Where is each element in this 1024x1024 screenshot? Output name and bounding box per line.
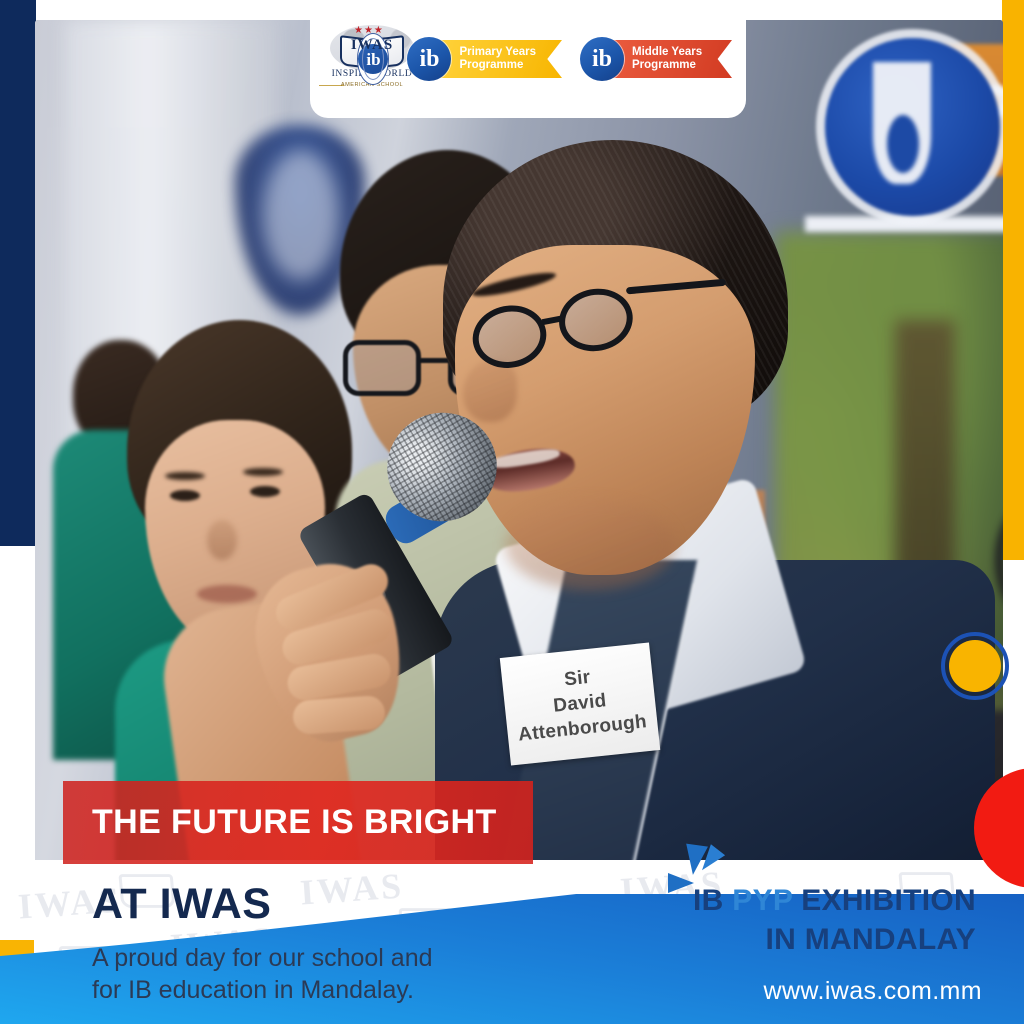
- photo-nametag-primary-line1: Sir: [563, 667, 591, 692]
- headline-banner-text: THE FUTURE IS BRIGHT: [92, 803, 497, 842]
- photo-child-left-mouth: [197, 585, 257, 603]
- photo-background-shield-highlight: [263, 150, 339, 280]
- yellow-dot-accent: [949, 640, 1001, 692]
- event-title-line2: IN MANDALAY: [693, 923, 976, 957]
- headline-banner: THE FUTURE IS BRIGHT: [63, 781, 533, 864]
- photo-child-middle-lens-left: [343, 340, 421, 396]
- ib-myp-badge: ib Middle Years Programme: [580, 37, 732, 81]
- photo-nametag-primary-line2: David: [552, 690, 607, 717]
- accreditation-logo-bar: ★★★ IWAS INSPIRE WORLD AMERICAN SCHOOL i…: [310, 0, 746, 118]
- ib-myp-line1: Middle Years: [632, 46, 706, 59]
- event-title-line1-suffix: EXHIBITION: [793, 884, 976, 917]
- event-title-line1: IB PYP EXHIBITION: [693, 884, 976, 918]
- ib-pyp-ribbon: Primary Years Programme: [439, 40, 562, 78]
- photo-background-ib-letter-counter: [887, 115, 919, 173]
- headline-tagline-line1: A proud day for our school and: [92, 943, 433, 975]
- photo-finger-4: [292, 695, 386, 735]
- photo-child-left-brow-left: [165, 472, 205, 480]
- photo-nametag-primary-line3: Attenborough: [517, 711, 648, 746]
- headline-subject: AT IWAS: [92, 880, 271, 929]
- photo-nametag-primary: Sir David Attenborough: [500, 642, 660, 765]
- event-title: IB PYP EXHIBITION IN MANDALAY: [693, 884, 976, 957]
- event-title-programme: PYP: [732, 884, 792, 917]
- headline-tagline: A proud day for our school and for IB ed…: [92, 943, 433, 1006]
- iwas-school-logo: ★★★ IWAS INSPIRE WORLD AMERICAN SCHOOL: [324, 23, 339, 95]
- photo-child-left-eye-right: [250, 486, 280, 497]
- iwas-logo-name: IWAS: [324, 37, 420, 54]
- photo-main-subject-chin: [505, 500, 675, 590]
- ib-myp-ribbon: Middle Years Programme: [612, 40, 732, 78]
- yellow-accent-strip-right: [1002, 0, 1024, 560]
- ib-pyp-badge: ib Primary Years Programme: [407, 37, 562, 81]
- website-url: www.iwas.com.mm: [763, 977, 982, 1006]
- navy-accent-strip-left: [0, 0, 36, 546]
- photo-main-subject-glasses-temple: [626, 279, 726, 295]
- ib-myp-line2: Programme: [632, 59, 706, 72]
- ib-myp-mark: ib: [580, 37, 624, 81]
- poster-canvas: Pro: [0, 0, 1024, 1024]
- photo-background-rail: [805, 216, 1003, 232]
- photo-child-left-eye-left: [170, 490, 200, 501]
- spark-triangle-3: [668, 873, 694, 893]
- ib-pyp-line1: Primary Years: [459, 46, 536, 59]
- headline-tagline-line2: for IB education in Mandalay.: [92, 975, 433, 1007]
- photo-child-left-brow-right: [243, 468, 283, 476]
- photo-child-left-nose: [207, 520, 237, 560]
- ib-pyp-line2: Programme: [459, 59, 536, 72]
- event-title-line1-prefix: IB: [693, 884, 732, 917]
